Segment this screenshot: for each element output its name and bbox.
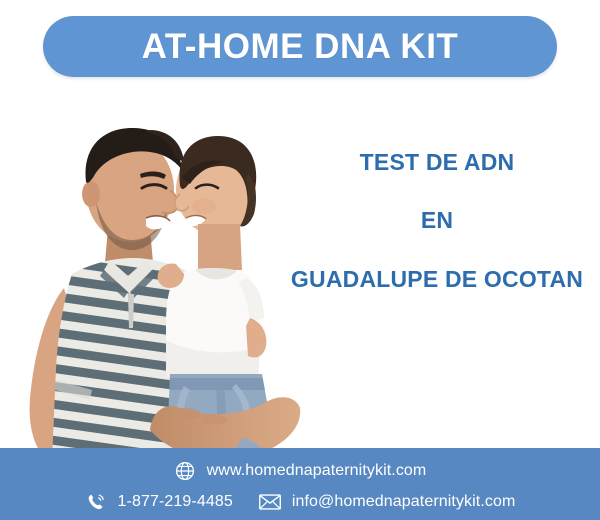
headline-block: TEST DE ADN EN GUADALUPE DE OCOTAN <box>282 150 592 292</box>
phone-label: 1-877-219-4485 <box>118 494 233 510</box>
email-contact-item[interactable]: info@homednapaternitykit.com <box>259 491 516 513</box>
page-title: AT-HOME DNA KIT <box>142 29 459 64</box>
envelope-icon <box>259 491 281 513</box>
dna-test-promo-poster: AT-HOME DNA KIT TEST DE ADN EN GUADALUPE… <box>0 0 600 520</box>
phone-contact-item[interactable]: 1-877-219-4485 <box>85 491 233 513</box>
website-label: www.homednapaternitykit.com <box>207 463 427 479</box>
globe-icon <box>174 460 196 482</box>
website-contact-item[interactable]: www.homednapaternitykit.com <box>174 460 427 482</box>
phone-icon <box>85 491 107 513</box>
footer-contact-band: www.homednapaternitykit.com 1-877-219-44… <box>0 448 600 520</box>
family-photo <box>0 78 330 460</box>
email-label: info@homednapaternitykit.com <box>292 494 516 510</box>
headline-line-preposition: EN <box>282 208 592 233</box>
headline-line-service: TEST DE ADN <box>282 150 592 175</box>
footer-website-row: www.homednapaternitykit.com <box>0 460 600 482</box>
header-banner: AT-HOME DNA KIT <box>43 16 557 77</box>
footer-phone-email-row: 1-877-219-4485 info@homednapaternitykit.… <box>0 491 600 513</box>
headline-line-location: GUADALUPE DE OCOTAN <box>282 267 592 292</box>
